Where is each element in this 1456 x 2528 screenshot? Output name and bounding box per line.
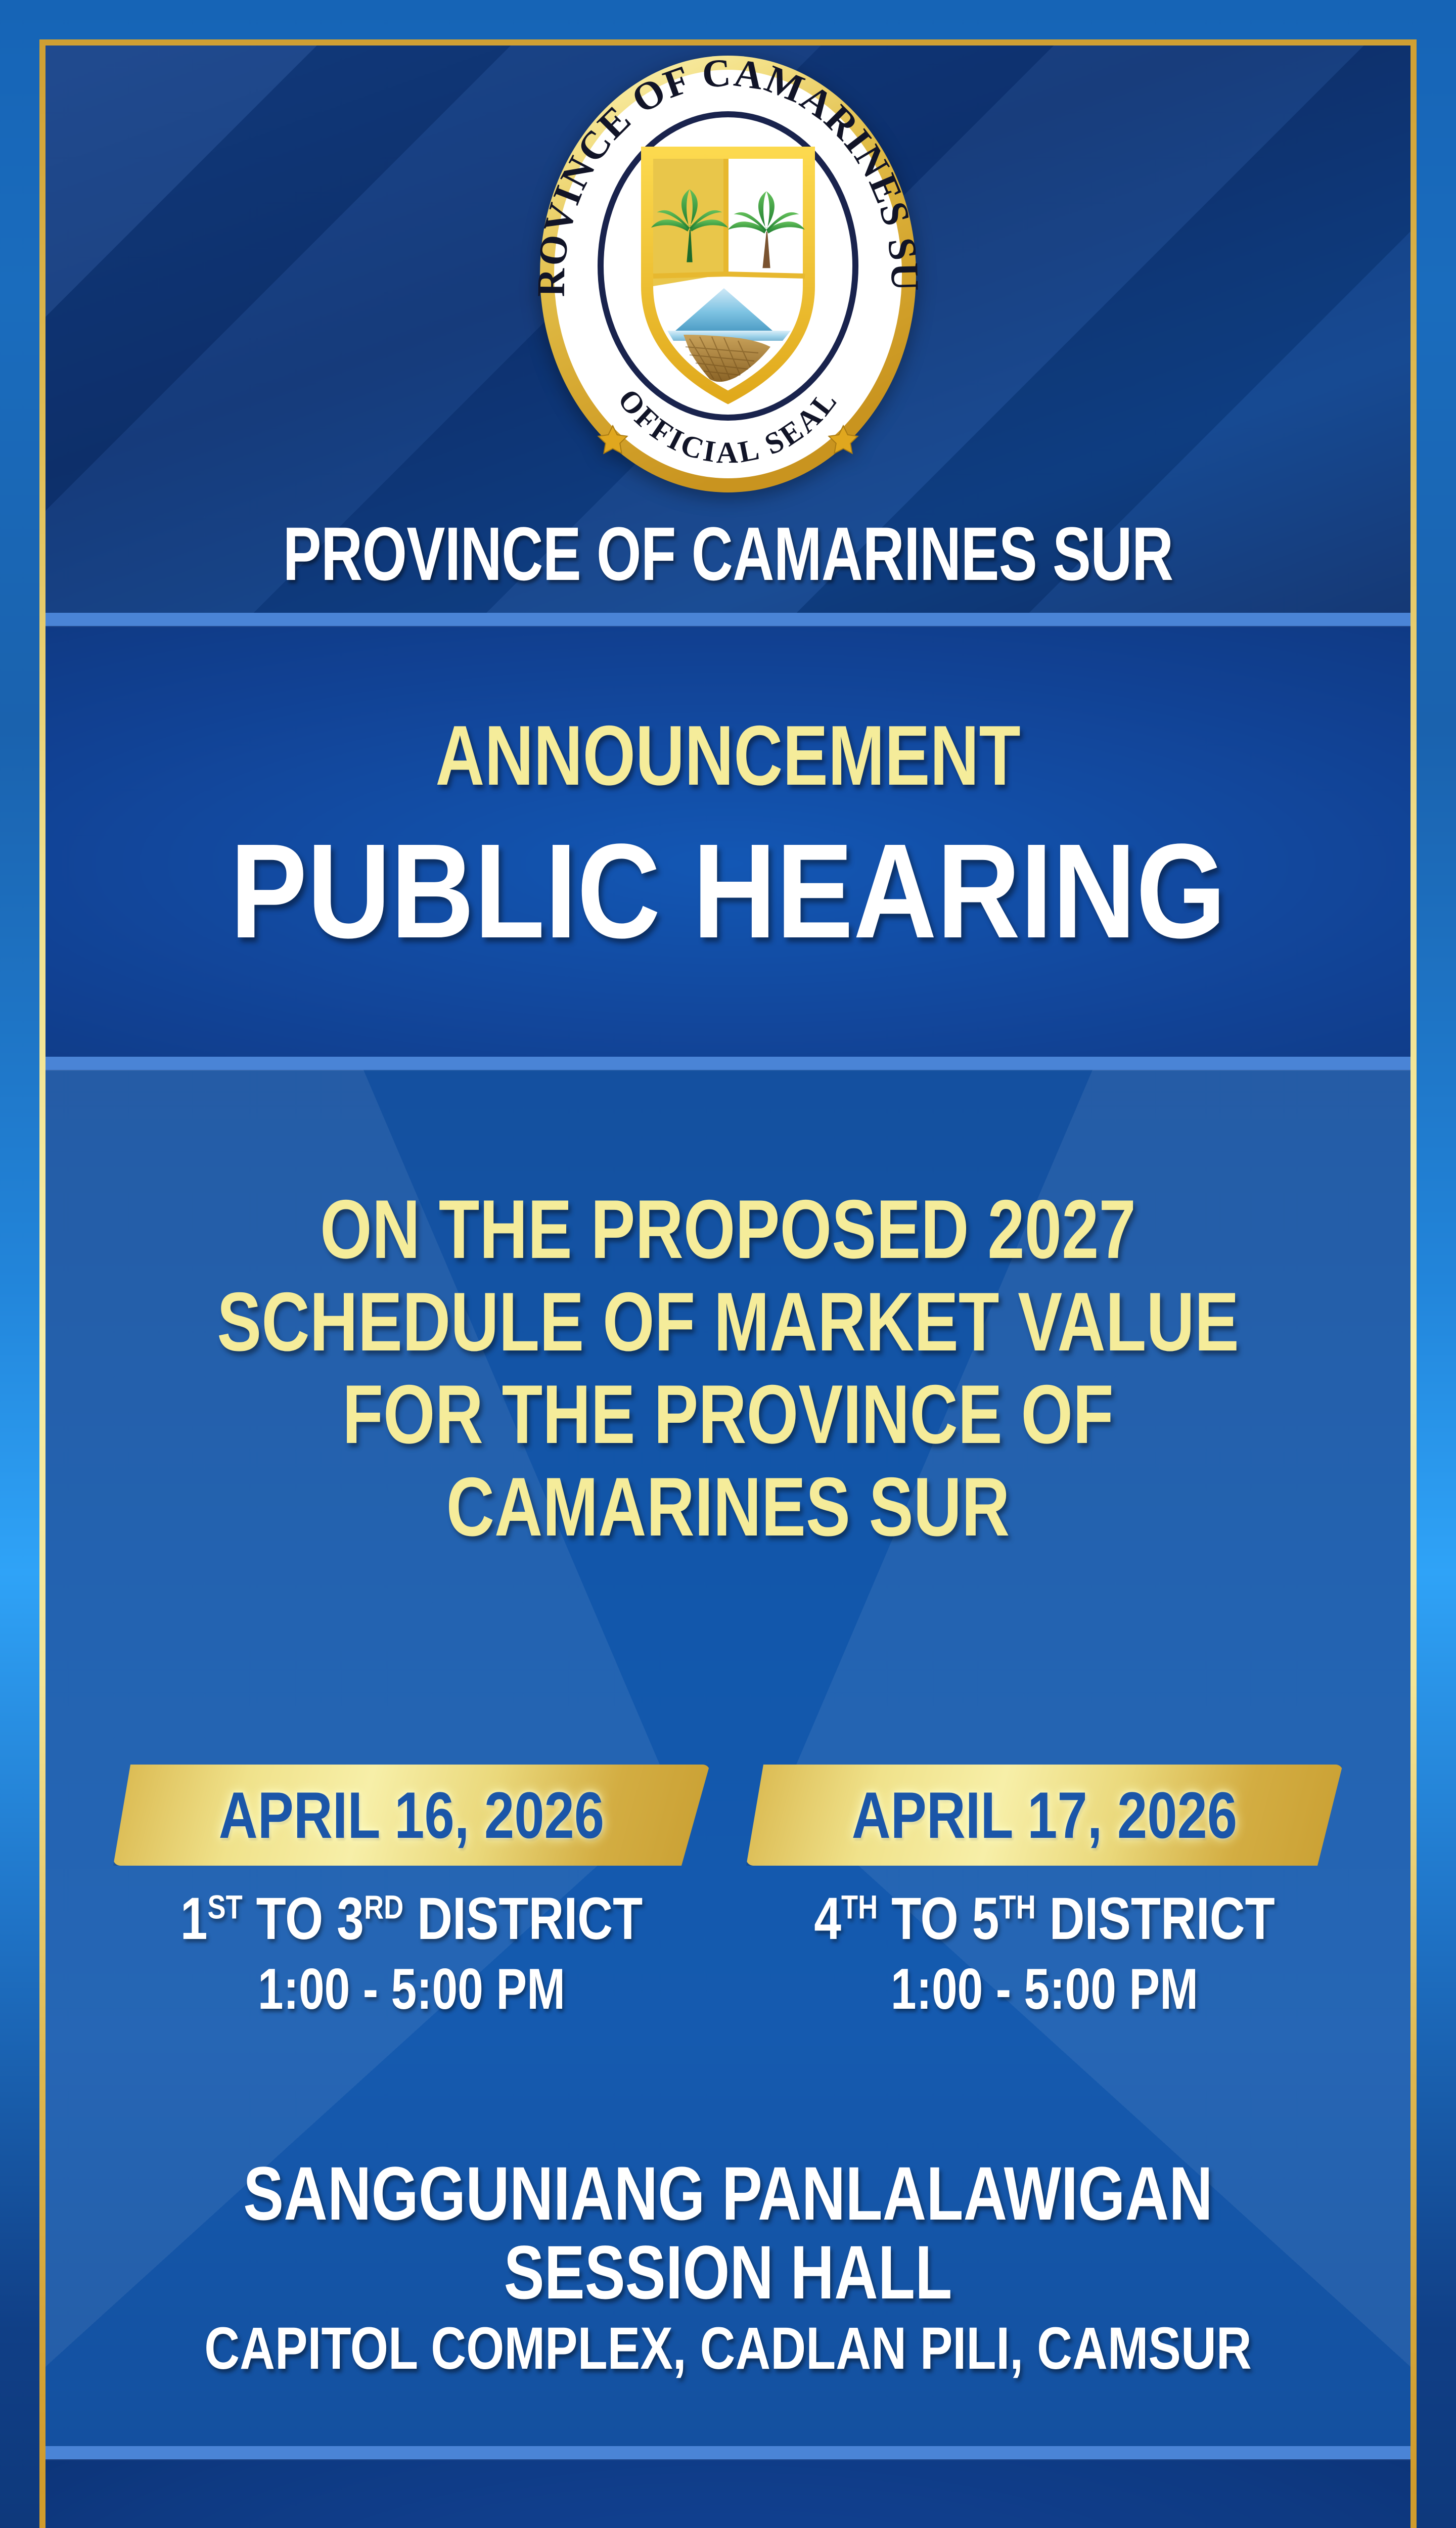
time-label-1: 1:00 - 5:00 PM [173, 1961, 650, 2018]
date-badge-2: APRIL 17, 2026 [746, 1765, 1343, 1866]
date-label-2: APRIL 17, 2026 [852, 1782, 1237, 1848]
date-label-1: APRIL 16, 2026 [219, 1782, 604, 1848]
district-label-2: 4TH TO 5TH DISTRICT [800, 1889, 1289, 1949]
district-label-1: 1ST TO 3RD DISTRICT [167, 1889, 656, 1949]
gold-border-frame: PROVINCE OF CAMARINES SUR OFFICIAL SEAL … [39, 39, 1417, 2528]
page-title-province: PROVINCE OF CAMARINES SUR [209, 516, 1247, 592]
announcement-kicker: ANNOUNCEMENT [182, 713, 1274, 798]
district-1-mid: TO 3 [243, 1885, 364, 1952]
subject-line-1: ON THE PROPOSED 2027 [182, 1183, 1274, 1276]
district-1-ord-end: RD [364, 1889, 403, 1926]
venue-address: CAPITOL COMPLEX, CADLAN PILI, CAMSUR [168, 2319, 1288, 2378]
schedule-block: APRIL 16, 2026 1ST TO 3RD DISTRICT 1:00 … [45, 1765, 1410, 2018]
poster-canvas: PROVINCE OF CAMARINES SUR OFFICIAL SEAL … [45, 46, 1410, 2528]
venue-name-line-2: SESSION HALL [182, 2233, 1274, 2312]
time-label-2: 1:00 - 5:00 PM [806, 1961, 1283, 2018]
announcement-poster: PROVINCE OF CAMARINES SUR OFFICIAL SEAL … [0, 0, 1456, 2528]
district-2-ord-end: TH [999, 1889, 1035, 1926]
subject-block: ON THE PROPOSED 2027 SCHEDULE OF MARKET … [182, 1183, 1274, 1554]
venue-block: SANGGUNIANG PANLALAWIGAN SESSION HALL CA… [45, 2154, 1410, 2378]
subject-line-3: FOR THE PROVINCE OF [182, 1368, 1274, 1461]
district-1-ord-start: ST [208, 1889, 243, 1926]
divider-band-middle [45, 1057, 1410, 1070]
district-1-tail: DISTRICT [403, 1885, 643, 1952]
venue-name-line-1: SANGGUNIANG PANLALAWIGAN [182, 2154, 1274, 2233]
official-seal-icon: PROVINCE OF CAMARINES SUR OFFICIAL SEAL [506, 46, 950, 517]
divider-band-bottom [45, 2446, 1410, 2459]
schedule-entry-1: APRIL 16, 2026 1ST TO 3RD DISTRICT 1:00 … [113, 1765, 710, 2018]
district-2-ord-start: TH [841, 1889, 878, 1926]
footer-background [45, 2452, 1410, 2528]
district-2-tail: DISTRICT [1036, 1885, 1275, 1952]
announcement-title: PUBLIC HEARING [141, 824, 1315, 959]
subject-line-2: SCHEDULE OF MARKET VALUE [182, 1276, 1274, 1368]
subject-line-4: CAMARINES SUR [182, 1461, 1274, 1553]
date-badge-1: APRIL 16, 2026 [113, 1765, 710, 1866]
divider-band-top [45, 613, 1410, 626]
schedule-entry-2: APRIL 17, 2026 4TH TO 5TH DISTRICT 1:00 … [746, 1765, 1343, 2018]
district-2-mid: TO 5 [878, 1885, 999, 1952]
district-1-num-start: 1 [180, 1885, 208, 1952]
district-2-num-start: 4 [814, 1885, 841, 1952]
